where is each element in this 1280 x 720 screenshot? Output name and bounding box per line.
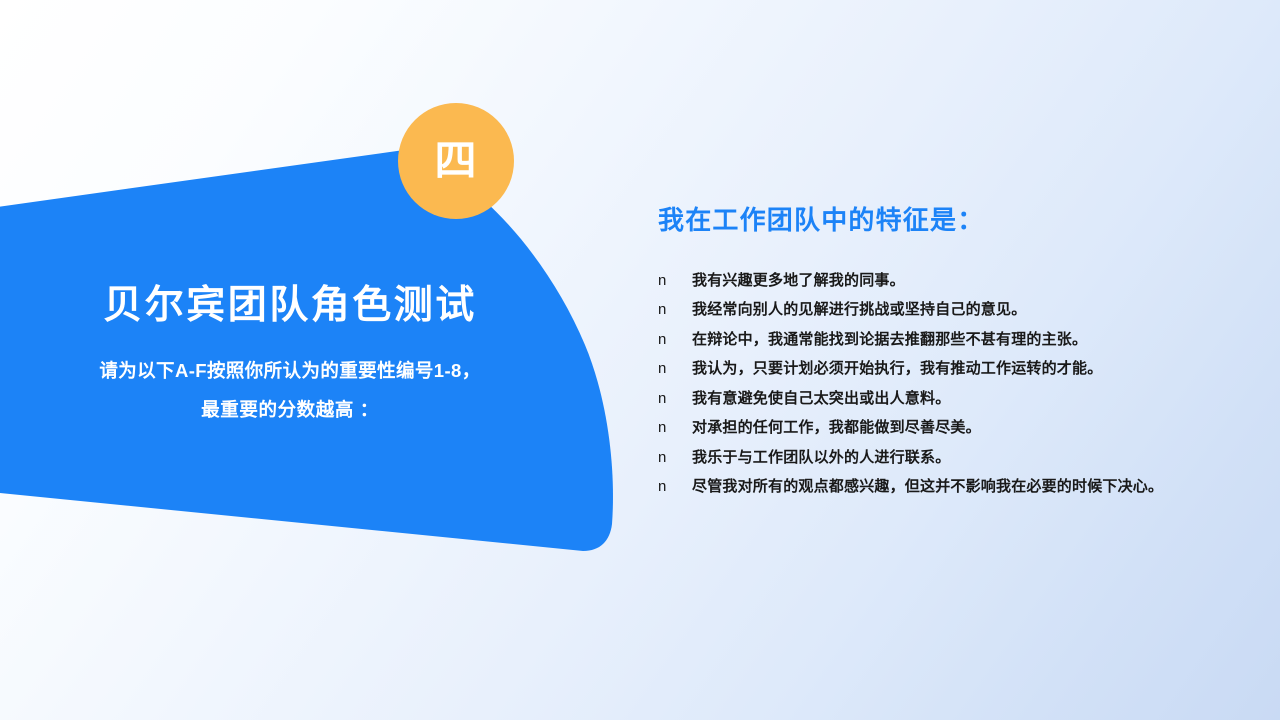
list-item-label: 我有兴趣更多地了解我的同事。 xyxy=(692,269,1218,294)
list-item: n 在辩论中，我通常能找到论据去推翻那些不甚有理的主张。 xyxy=(658,328,1218,353)
left-panel-text-block: 贝尔宾团队角色测试 请为以下A-F按照你所认为的重要性编号1-8， 最重要的分数… xyxy=(0,283,580,429)
list-item: n 我经常向别人的见解进行挑战或坚持自己的意见。 xyxy=(658,298,1218,323)
square-bullet-icon: n xyxy=(658,416,692,441)
list-item: n 我乐于与工作团队以外的人进行联系。 xyxy=(658,446,1218,471)
square-bullet-icon: n xyxy=(658,446,692,471)
page-subtitle-line-1: 请为以下A-F按照你所认为的重要性编号1-8， xyxy=(40,352,540,391)
list-item-label: 对承担的任何工作，我都能做到尽善尽美。 xyxy=(692,416,1218,441)
list-item: n 我有意避免使自己太突出或出人意料。 xyxy=(658,387,1218,412)
right-content-panel: 我在工作团队中的特征是： n 我有兴趣更多地了解我的同事。 n 我经常向别人的见… xyxy=(658,204,1218,505)
list-item-label: 在辩论中，我通常能找到论据去推翻那些不甚有理的主张。 xyxy=(692,328,1218,353)
list-item-label: 我有意避免使自己太突出或出人意料。 xyxy=(692,387,1218,412)
square-bullet-icon: n xyxy=(658,328,692,353)
list-item-label: 尽管我对所有的观点都感兴趣，但这并不影响我在必要的时候下决心。 xyxy=(692,475,1190,500)
section-number-label: 四 xyxy=(434,140,477,182)
section-heading: 我在工作团队中的特征是： xyxy=(658,204,1218,237)
list-item: n 我有兴趣更多地了解我的同事。 xyxy=(658,269,1218,294)
page-subtitle-line-2: 最重要的分数越高 ： xyxy=(40,391,540,430)
square-bullet-icon: n xyxy=(658,475,692,500)
slide-canvas: 四 贝尔宾团队角色测试 请为以下A-F按照你所认为的重要性编号1-8， 最重要的… xyxy=(0,0,1280,720)
page-title: 贝尔宾团队角色测试 xyxy=(0,283,580,330)
page-subtitle: 请为以下A-F按照你所认为的重要性编号1-8， 最重要的分数越高 ： xyxy=(0,352,580,430)
square-bullet-icon: n xyxy=(658,298,692,323)
list-item-label: 我乐于与工作团队以外的人进行联系。 xyxy=(692,446,1218,471)
square-bullet-icon: n xyxy=(658,387,692,412)
section-number-badge: 四 xyxy=(398,103,514,219)
square-bullet-icon: n xyxy=(658,269,692,294)
list-item: n 尽管我对所有的观点都感兴趣，但这并不影响我在必要的时候下决心。 xyxy=(658,475,1218,500)
square-bullet-icon: n xyxy=(658,357,692,382)
list-item-label: 我经常向别人的见解进行挑战或坚持自己的意见。 xyxy=(692,298,1218,323)
list-item-label: 我认为，只要计划必须开始执行，我有推动工作运转的才能。 xyxy=(692,357,1218,382)
list-item: n 我认为，只要计划必须开始执行，我有推动工作运转的才能。 xyxy=(658,357,1218,382)
list-item: n 对承担的任何工作，我都能做到尽善尽美。 xyxy=(658,416,1218,441)
statement-list: n 我有兴趣更多地了解我的同事。 n 我经常向别人的见解进行挑战或坚持自己的意见… xyxy=(658,269,1218,500)
